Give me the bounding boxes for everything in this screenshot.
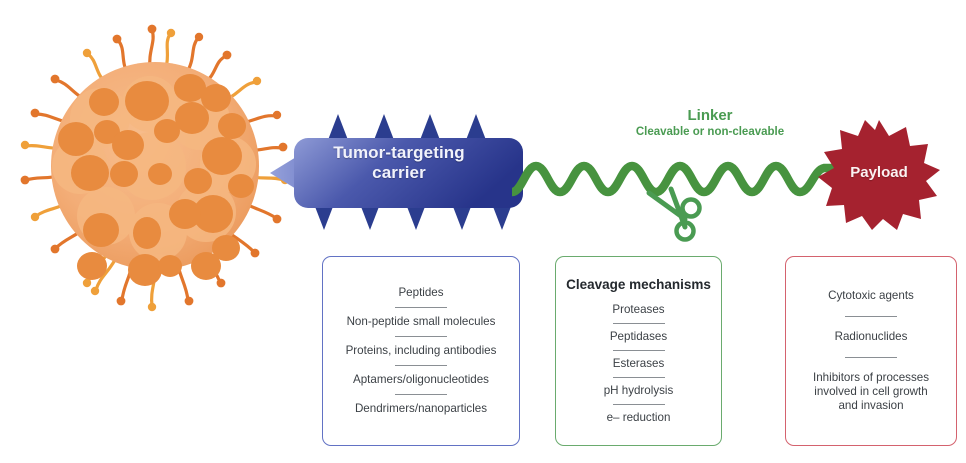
tumor-targeting-carrier-shape[interactable] [268,112,530,234]
scissors-icon [645,183,715,243]
list-separator [613,350,665,351]
box-title: Cleavage mechanisms [566,277,711,293]
list-separator [613,377,665,378]
list-separator [395,336,447,337]
list-item: pH hydrolysis [604,384,674,398]
list-item: Radionuclides [835,330,908,344]
list-item: Proteins, including antibodies [346,344,497,358]
list-item: Dendrimers/nanoparticles [355,402,487,416]
list-item: Cytotoxic agents [828,289,914,303]
list-separator [395,307,447,308]
linker-title: Linker [620,108,800,124]
tumor-cell-illustration [0,8,310,328]
list-separator [613,323,665,324]
list-item: Proteases [612,303,664,317]
payload-options-box: Cytotoxic agents Radionuclides Inhibitor… [785,256,957,446]
payload-burst[interactable] [818,118,940,230]
carrier-body [294,138,523,208]
list-item: Peptidases [610,330,667,344]
carrier-top-spikes [328,114,486,140]
list-item: Non-peptide small molecules [347,315,496,329]
list-item: Peptides [398,286,443,300]
list-separator [613,404,665,405]
list-item: e– reduction [607,411,671,425]
diagram-canvas: Tumor-targeting carrier Linker Cleavable… [0,0,966,463]
list-item: Esterases [613,357,665,371]
carrier-options-box: Peptides Non-peptide small molecules Pro… [322,256,520,446]
linker-subtitle: Cleavable or non-cleavable [600,126,820,139]
list-item: Inhibitors of processes involved in cell… [813,371,929,413]
list-item: Aptamers/oligonucleotides [353,373,489,387]
list-separator [845,357,897,358]
cleavage-mechanisms-box: Cleavage mechanisms Proteases Peptidases… [555,256,722,446]
list-separator [395,365,447,366]
list-separator [845,316,897,317]
list-separator [395,394,447,395]
